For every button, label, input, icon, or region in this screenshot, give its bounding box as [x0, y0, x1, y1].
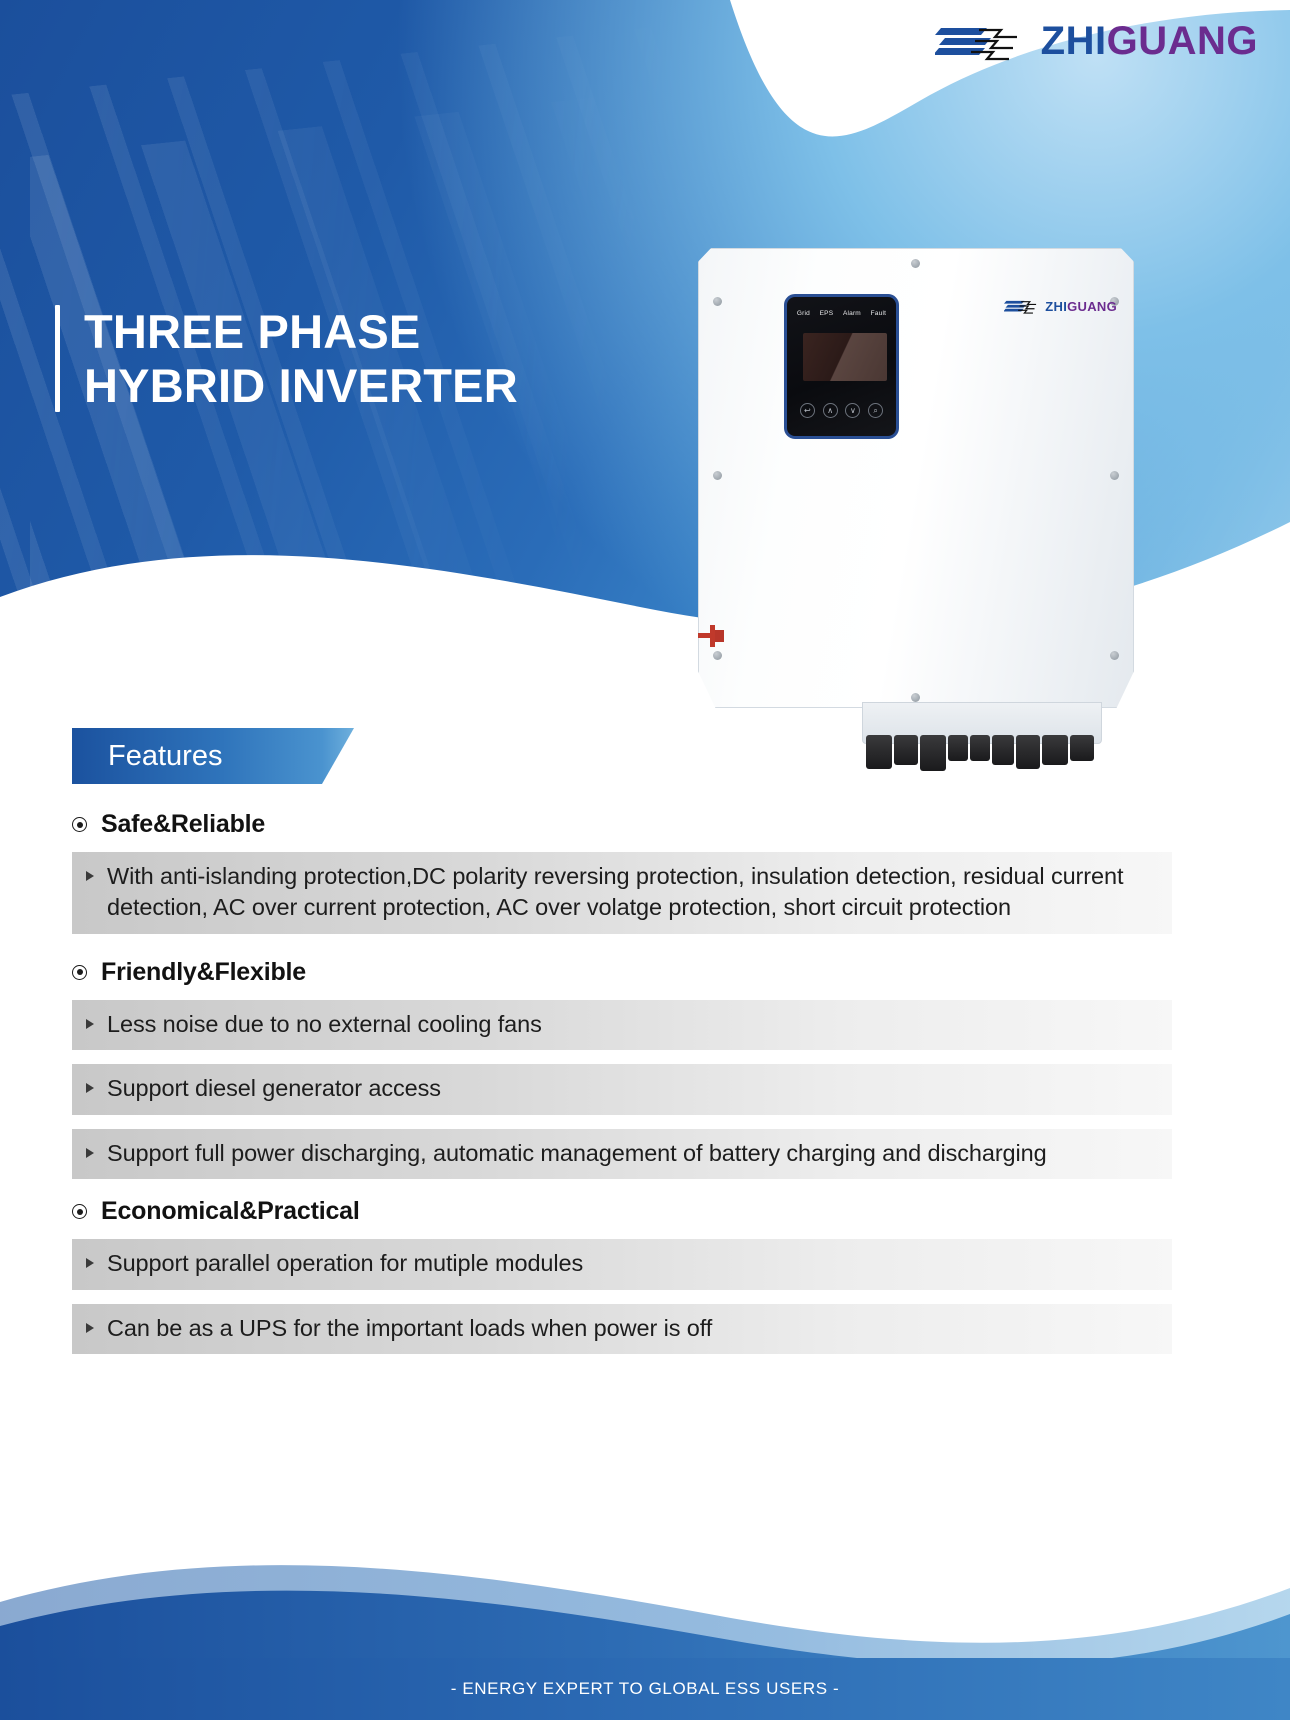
feature-bullet-text: Less noise due to no external cooling fa… [107, 1009, 542, 1040]
feature-bullet: With anti-islanding protection,DC polari… [72, 852, 1172, 934]
feature-group-heading-economical-practical: Economical&Practical [0, 1197, 1290, 1226]
product-brand-part1: ZHI [1045, 299, 1067, 314]
chassis-screw [713, 471, 722, 480]
cable-gland [920, 735, 946, 771]
features-banner: Features [72, 728, 322, 784]
enter-button-icon: ⌕ [868, 403, 883, 418]
brand-name-part2: GUANG [1107, 19, 1258, 63]
cable-gland [970, 735, 990, 761]
led-label-fault: Fault [871, 310, 886, 317]
inverter-chassis: Grid EPS Alarm Fault ↩ ∧ ∨ ⌕ [698, 248, 1134, 708]
title-line-2: HYBRID INVERTER [84, 359, 518, 413]
led-label-eps: EPS [820, 310, 834, 317]
chassis-screw [1110, 471, 1119, 480]
feature-bullet: Less noise due to no external cooling fa… [72, 1000, 1172, 1050]
brand-name-part1: ZHI [1041, 19, 1107, 63]
led-label-alarm: Alarm [843, 310, 861, 317]
inverter-display-panel: Grid EPS Alarm Fault ↩ ∧ ∨ ⌕ [784, 294, 899, 439]
feature-bullet-text: Support parallel operation for mutiple m… [107, 1248, 583, 1279]
cable-gland [948, 735, 968, 761]
feature-bullet-text: Can be as a UPS for the important loads … [107, 1313, 712, 1344]
product-image: Grid EPS Alarm Fault ↩ ∧ ∨ ⌕ [690, 240, 1140, 770]
feature-group-heading-safe-reliable: Safe&Reliable [0, 810, 1290, 839]
feature-bullet: Can be as a UPS for the important loads … [72, 1304, 1172, 1354]
pressure-valve-icon [684, 624, 726, 648]
back-button-icon: ↩ [800, 403, 815, 418]
chassis-screw [713, 297, 722, 306]
product-brand-logo: ZHIGUANG [1004, 297, 1117, 315]
cable-gland [866, 735, 892, 769]
bullet-dot-icon [72, 965, 87, 980]
stacked-bars-logo-icon [935, 18, 1027, 64]
inverter-lcd-screen [803, 333, 887, 381]
feature-bullet-text: Support diesel generator access [107, 1073, 441, 1104]
inverter-cable-glands [866, 735, 1102, 781]
arrow-right-icon [86, 871, 94, 881]
inverter-led-label-row: Grid EPS Alarm Fault [787, 310, 896, 317]
bullet-dot-icon [72, 1204, 87, 1219]
title-text: THREE PHASE HYBRID INVERTER [84, 305, 518, 412]
feature-group-title: Safe&Reliable [101, 810, 265, 839]
feature-bullet: Support parallel operation for mutiple m… [72, 1239, 1172, 1289]
footer-section: - ENERGY EXPERT TO GLOBAL ESS USERS - [0, 1420, 1290, 1720]
feature-bullet-text: With anti-islanding protection,DC polari… [107, 861, 1156, 924]
cable-gland [1016, 735, 1040, 769]
title-accent-bar [55, 305, 60, 412]
features-banner-tail [322, 728, 354, 784]
feature-bullet: Support full power discharging, automati… [72, 1129, 1172, 1179]
feature-group-title: Economical&Practical [101, 1197, 360, 1226]
arrow-right-icon [86, 1019, 94, 1029]
cable-gland [1070, 735, 1094, 761]
feature-bullet: Support diesel generator access [72, 1064, 1172, 1114]
down-button-icon: ∨ [845, 403, 860, 418]
up-button-icon: ∧ [823, 403, 838, 418]
feature-group-heading-friendly-flexible: Friendly&Flexible [0, 958, 1290, 987]
cable-gland [1042, 735, 1068, 765]
arrow-right-icon [86, 1323, 94, 1333]
chassis-screw [911, 259, 920, 268]
cable-gland [894, 735, 918, 765]
chassis-screw [911, 693, 920, 702]
led-label-grid: Grid [797, 310, 810, 317]
brand-logo: ZHIGUANG [935, 18, 1258, 64]
brand-wordmark: ZHIGUANG [1041, 19, 1258, 64]
title-line-1: THREE PHASE [84, 305, 518, 359]
page-title: THREE PHASE HYBRID INVERTER [55, 305, 518, 412]
cable-gland [992, 735, 1014, 765]
inverter-button-row: ↩ ∧ ∨ ⌕ [787, 403, 896, 418]
chassis-screw [713, 651, 722, 660]
arrow-right-icon [86, 1148, 94, 1158]
arrow-right-icon [86, 1083, 94, 1093]
product-brand-wordmark: ZHIGUANG [1045, 299, 1117, 314]
arrow-right-icon [86, 1258, 94, 1268]
chassis-screw [1110, 651, 1119, 660]
bullet-dot-icon [72, 817, 87, 832]
product-brand-part2: GUANG [1067, 299, 1117, 314]
feature-bullet-text: Support full power discharging, automati… [107, 1138, 1047, 1169]
feature-group-title: Friendly&Flexible [101, 958, 306, 987]
footer-tagline-bar: - ENERGY EXPERT TO GLOBAL ESS USERS - [0, 1658, 1290, 1720]
features-content: Safe&Reliable With anti-islanding protec… [0, 810, 1290, 1368]
stacked-bars-logo-icon [1004, 297, 1040, 315]
footer-tagline: - ENERGY EXPERT TO GLOBAL ESS USERS - [451, 1679, 839, 1699]
